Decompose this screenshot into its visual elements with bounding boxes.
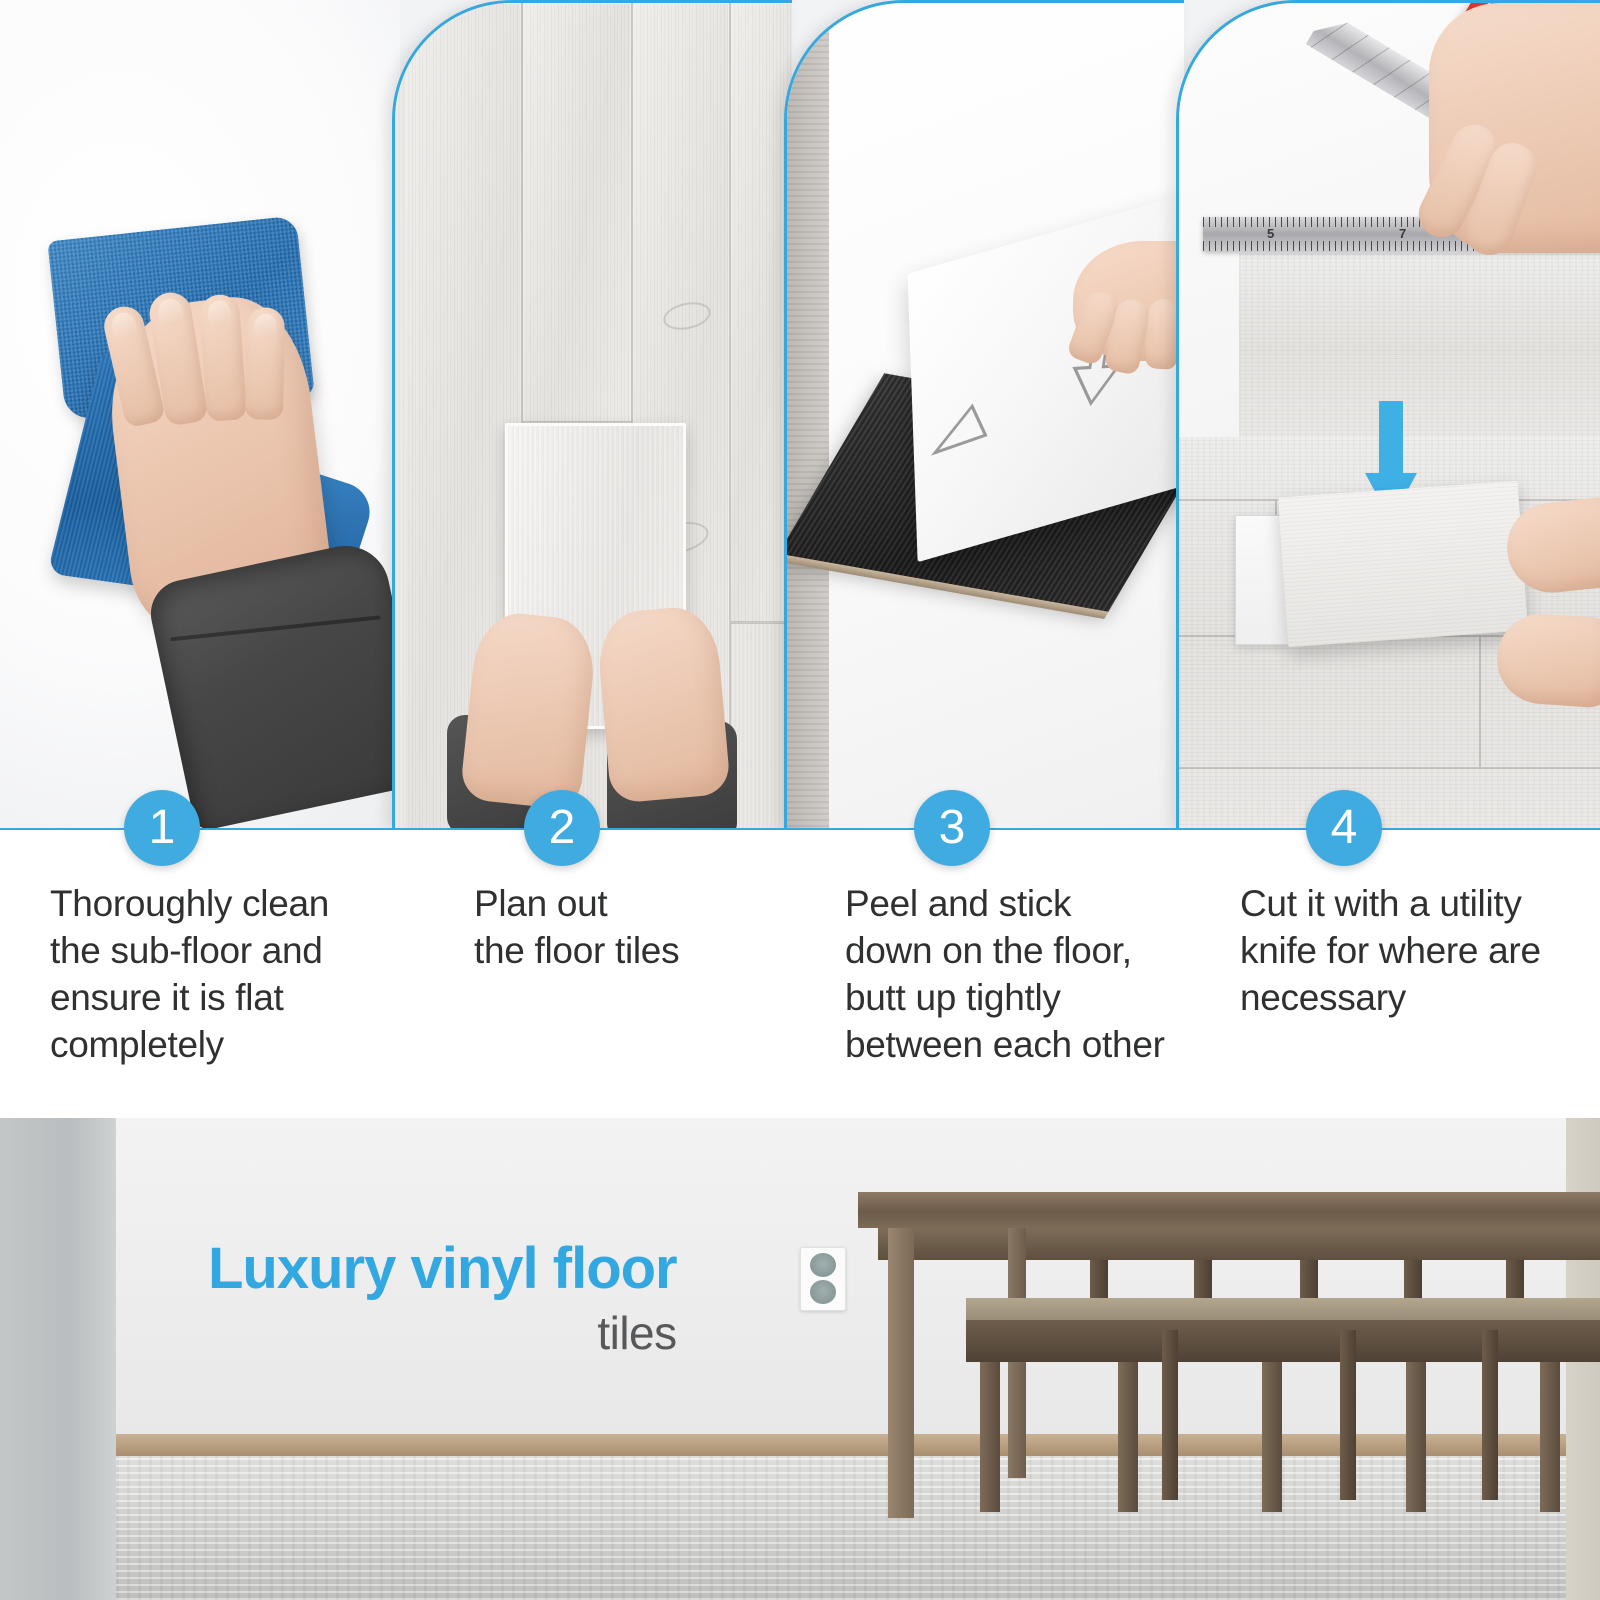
steps-photo-strip: 5 7 bbox=[0, 0, 1600, 830]
plank bbox=[731, 3, 792, 623]
step-4-photo: 5 7 bbox=[1176, 0, 1600, 830]
tile-being-placed bbox=[1278, 481, 1528, 647]
infographic-page: 5 7 bbox=[0, 0, 1600, 1600]
ruler-mark-5: 5 bbox=[1267, 226, 1274, 241]
hand-right bbox=[595, 604, 731, 804]
step-3-photo bbox=[784, 0, 1184, 830]
ruler-mark-7: 7 bbox=[1399, 226, 1406, 241]
fingernail bbox=[254, 313, 276, 339]
arrow-marking-icon bbox=[920, 400, 991, 476]
fingernail bbox=[156, 297, 184, 328]
fingernail bbox=[109, 310, 139, 343]
plank-seam bbox=[1479, 637, 1481, 767]
brand-lockup: Luxury vinyl floor tiles bbox=[208, 1240, 677, 1356]
floor-edge bbox=[787, 3, 829, 830]
bench-leg bbox=[1262, 1362, 1282, 1512]
bench-leg bbox=[980, 1362, 1000, 1512]
brand-line-2: tiles bbox=[208, 1310, 677, 1356]
step-1-caption: Thoroughly clean the sub-floor and ensur… bbox=[50, 880, 390, 1068]
finger-ring bbox=[199, 293, 248, 421]
dining-table-apron bbox=[878, 1228, 1600, 1260]
step-badge-3: 3 bbox=[914, 790, 990, 866]
chair-leg bbox=[1162, 1330, 1178, 1500]
bench-leg bbox=[1540, 1362, 1560, 1512]
dining-table-top bbox=[858, 1192, 1600, 1228]
plank-seam bbox=[1179, 767, 1600, 769]
hand-holding-knife bbox=[1429, 3, 1600, 253]
step-badge-4: 4 bbox=[1306, 790, 1382, 866]
table-leg-front bbox=[888, 1228, 914, 1518]
side-wall bbox=[0, 1118, 116, 1600]
plank-seam bbox=[729, 3, 731, 830]
plank-being-cut bbox=[1239, 253, 1600, 437]
step-4-caption: Cut it with a utility knife for where ar… bbox=[1240, 880, 1590, 1021]
step-2-caption: Plan out the floor tiles bbox=[474, 880, 804, 974]
chair-leg bbox=[1482, 1330, 1498, 1500]
plank bbox=[523, 3, 631, 423]
step-3-caption: Peel and stick down on the floor, butt u… bbox=[845, 880, 1195, 1068]
bench-seat bbox=[966, 1298, 1600, 1320]
plank-butt-joint bbox=[731, 621, 792, 624]
wall-outlet bbox=[800, 1247, 846, 1311]
socket-bottom bbox=[810, 1280, 836, 1304]
socket-top bbox=[810, 1253, 836, 1277]
step-2-photo bbox=[392, 0, 792, 830]
bench-leg bbox=[1118, 1362, 1138, 1512]
step-badge-2: 2 bbox=[524, 790, 600, 866]
step-1-photo bbox=[0, 0, 400, 830]
cutting-scene: 5 7 bbox=[1179, 3, 1600, 437]
brand-line-1: Luxury vinyl floor bbox=[208, 1240, 677, 1298]
finger-pinky bbox=[245, 307, 285, 420]
fingernail bbox=[207, 300, 232, 329]
bench-leg bbox=[1406, 1362, 1426, 1512]
dark-sleeve bbox=[145, 538, 400, 830]
step-badge-1: 1 bbox=[124, 790, 200, 866]
bench-apron bbox=[966, 1320, 1600, 1362]
chair-leg bbox=[1340, 1330, 1356, 1500]
